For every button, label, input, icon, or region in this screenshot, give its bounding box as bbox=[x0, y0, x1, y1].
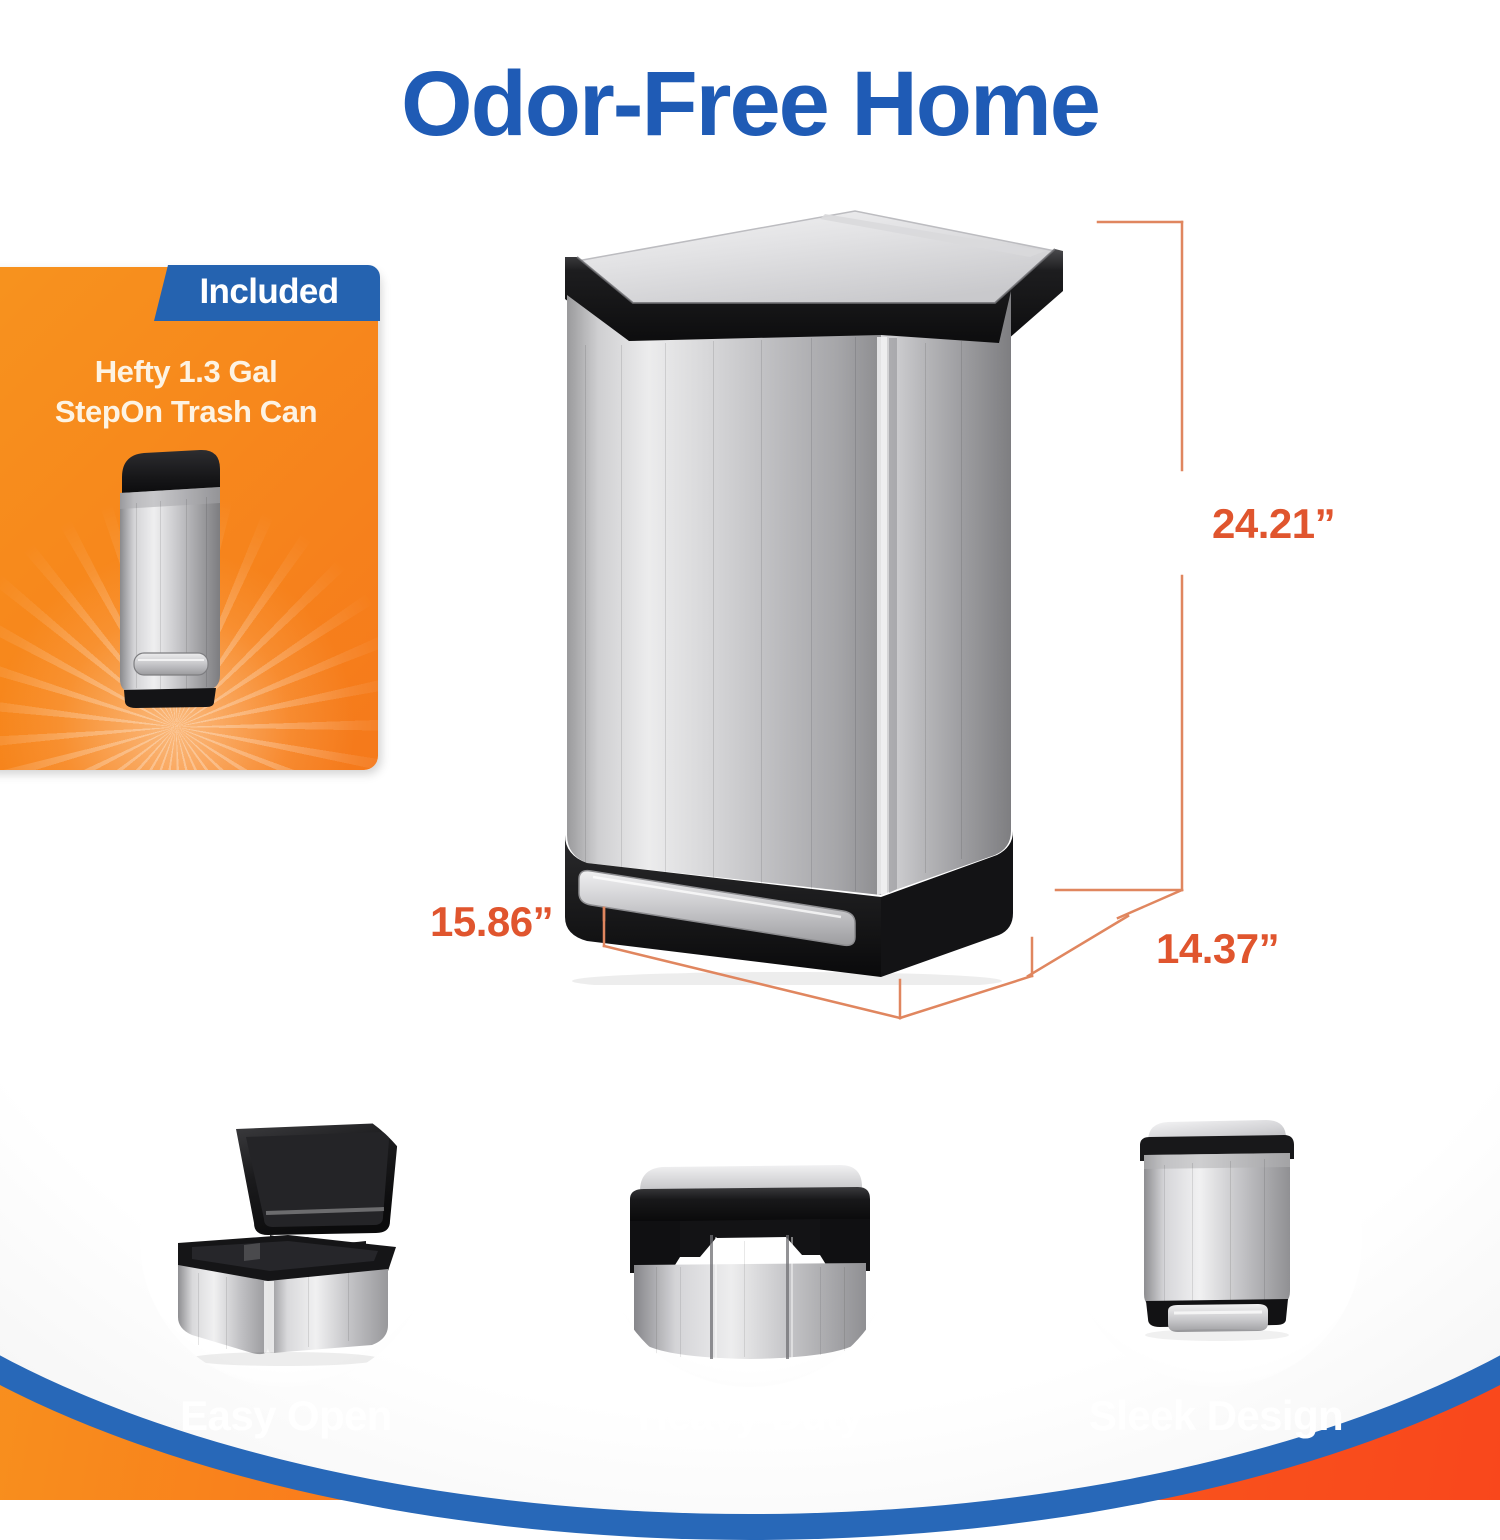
main-product-image bbox=[525, 195, 1085, 985]
feature-image-easy-open bbox=[140, 1095, 432, 1387]
included-product-name: Hefty 1.3 Gal StepOn Trash Can bbox=[6, 352, 366, 432]
feature-image-heavy-duty bbox=[604, 1095, 896, 1387]
feature-label-sleek-design: Sleek Design bbox=[1006, 1392, 1426, 1440]
included-product-image bbox=[108, 447, 233, 710]
included-badge-label: Included bbox=[166, 272, 372, 312]
infographic-stage: Odor-Free Home bbox=[0, 0, 1500, 1500]
dimension-width-label: 15.86” bbox=[430, 898, 553, 946]
dimension-height-label: 24.21” bbox=[1212, 500, 1335, 548]
feature-image-sleek-design bbox=[1070, 1095, 1362, 1387]
page-title: Odor-Free Home bbox=[0, 52, 1500, 157]
feature-label-heavy-duty: Heavy-Duty bbox=[540, 1392, 960, 1440]
dimension-depth-label: 14.37” bbox=[1156, 925, 1279, 973]
feature-circle-easy-open bbox=[140, 1095, 432, 1387]
feature-label-easy-open: Easy Open bbox=[76, 1392, 496, 1440]
feature-circle-heavy-duty bbox=[604, 1095, 896, 1387]
feature-circle-sleek-design bbox=[1070, 1095, 1362, 1387]
